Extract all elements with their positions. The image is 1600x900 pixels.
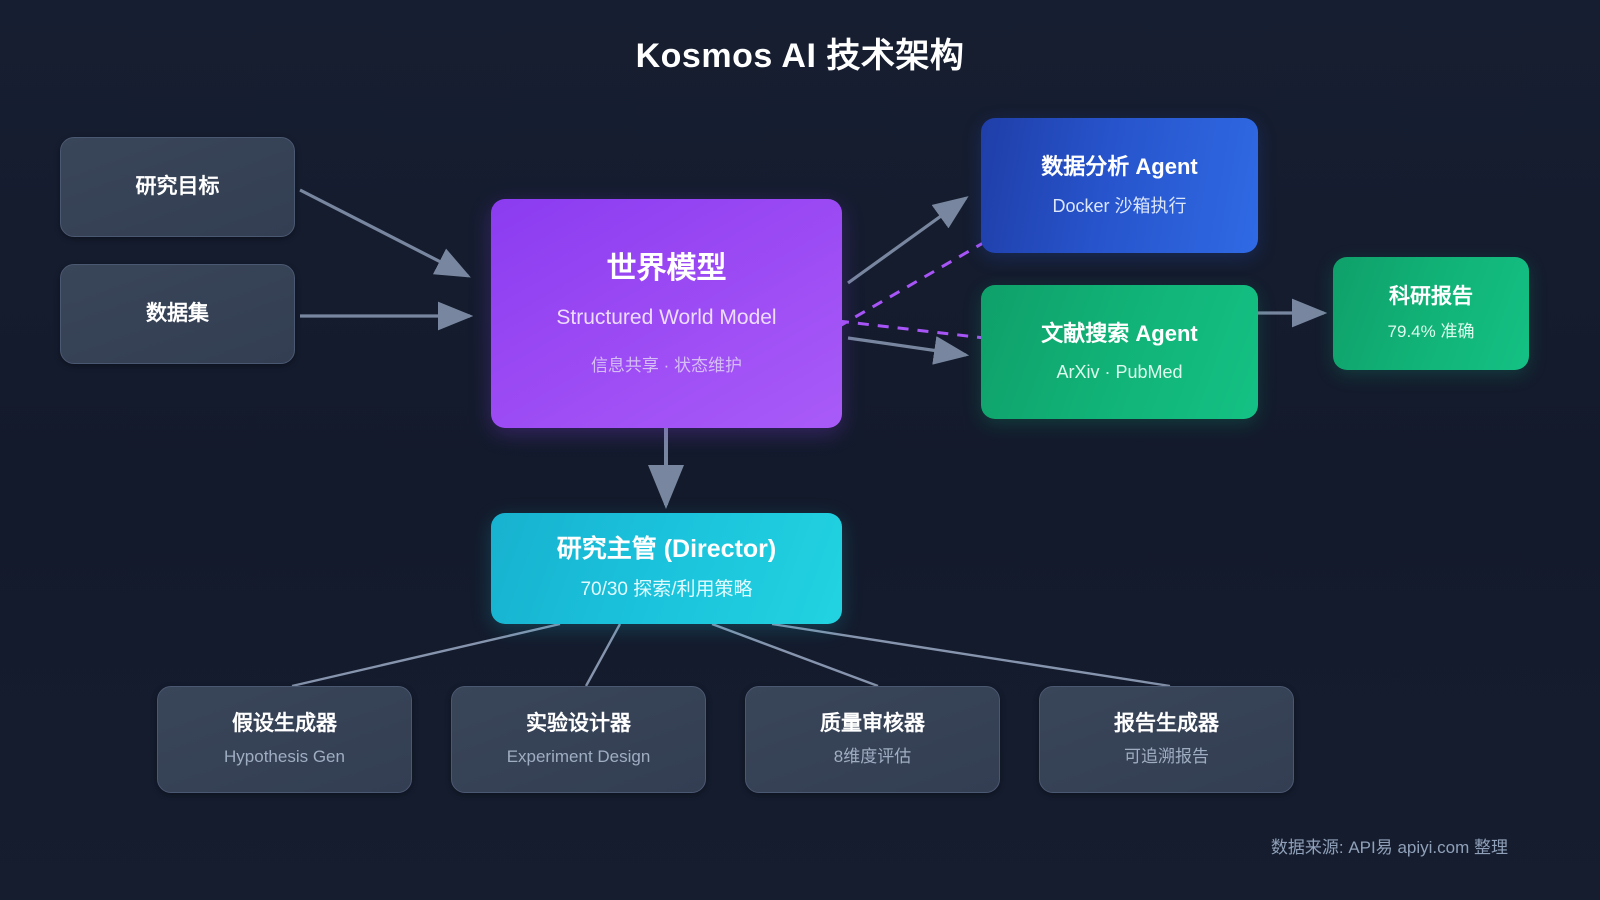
node-subtitle: ArXiv · PubMed	[1056, 361, 1182, 384]
node-hypothesis-gen[interactable]: 假设生成器 Hypothesis Gen	[157, 686, 412, 793]
node-subtitle: Structured World Model	[556, 304, 776, 331]
node-research-report[interactable]: 科研报告 79.4% 准确	[1333, 257, 1529, 370]
edge-dashed-analysis-feedback	[838, 232, 1002, 327]
node-title: 研究目标	[136, 174, 220, 200]
node-subtitle: Docker 沙箱执行	[1052, 195, 1186, 218]
node-title: 世界模型	[607, 250, 727, 288]
node-title: 科研报告	[1389, 284, 1473, 310]
node-research-goal[interactable]: 研究目标	[60, 137, 295, 237]
node-world-model[interactable]: 世界模型 Structured World Model 信息共享 · 状态维护	[491, 199, 842, 428]
node-note: 信息共享 · 状态维护	[591, 355, 742, 377]
edge-director-to-experiment	[586, 624, 620, 686]
edge-director-to-report-gen	[772, 624, 1170, 686]
node-title: 报告生成器	[1114, 711, 1219, 737]
node-title: 实验设计器	[526, 711, 631, 737]
edge-director-to-quality	[712, 624, 878, 686]
node-title: 文献搜索 Agent	[1041, 320, 1197, 348]
node-data-analysis-agent[interactable]: 数据分析 Agent Docker 沙箱执行	[981, 118, 1258, 253]
node-title: 质量审核器	[820, 711, 925, 737]
node-title: 数据分析 Agent	[1041, 153, 1197, 181]
page-title: Kosmos AI 技术架构	[0, 28, 1600, 77]
node-subtitle: 可追溯报告	[1124, 746, 1209, 768]
node-report-generator[interactable]: 报告生成器 可追溯报告	[1039, 686, 1294, 793]
node-title: 数据集	[146, 301, 209, 327]
node-experiment-design[interactable]: 实验设计器 Experiment Design	[451, 686, 706, 793]
edge-goal-to-world	[300, 190, 468, 276]
node-title: 假设生成器	[232, 711, 337, 737]
node-literature-search-agent[interactable]: 文献搜索 Agent ArXiv · PubMed	[981, 285, 1258, 419]
node-dataset[interactable]: 数据集	[60, 264, 295, 364]
node-research-director[interactable]: 研究主管 (Director) 70/30 探索/利用策略	[491, 513, 842, 624]
edge-world-to-analysis	[848, 198, 966, 283]
edge-dashed-literature-feedback	[838, 321, 1002, 340]
node-subtitle: 70/30 探索/利用策略	[580, 578, 752, 603]
source-footer: 数据来源: API易 apiyi.com 整理	[1271, 833, 1508, 858]
edge-director-to-hypothesis	[292, 624, 560, 686]
node-quality-reviewer[interactable]: 质量审核器 8维度评估	[745, 686, 1000, 793]
node-subtitle: Hypothesis Gen	[224, 746, 345, 768]
node-subtitle: 79.4% 准确	[1388, 321, 1475, 343]
node-subtitle: Experiment Design	[507, 746, 651, 768]
node-title: 研究主管 (Director)	[557, 534, 776, 565]
node-subtitle: 8维度评估	[834, 746, 911, 768]
edge-world-to-literature	[848, 338, 966, 355]
